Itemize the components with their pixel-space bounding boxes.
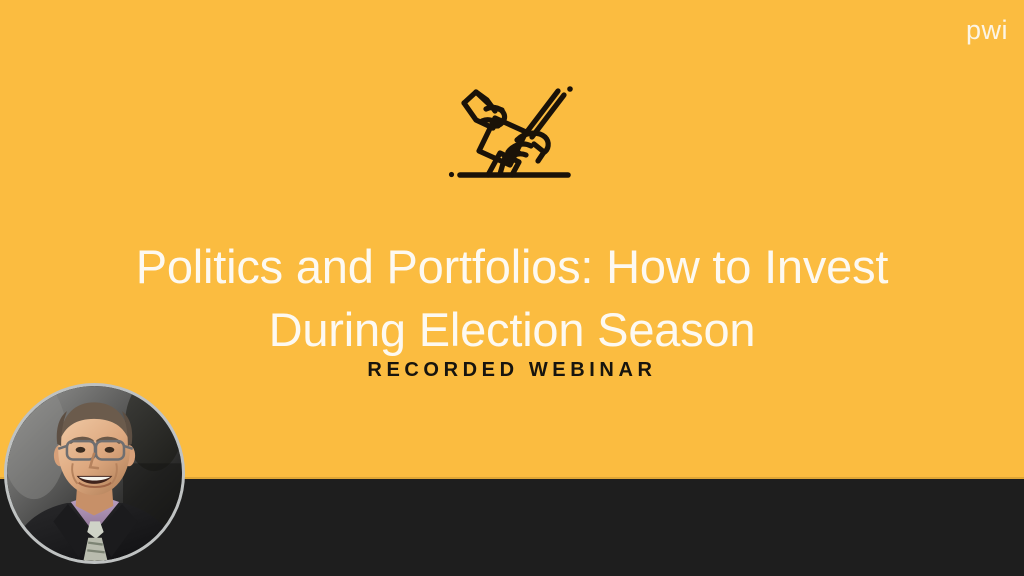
voting-ballot-hands-icon <box>446 80 578 184</box>
page-title-line-2: During Election Season <box>40 299 984 361</box>
speaker-avatar <box>4 383 185 564</box>
page-title-line-1: Politics and Portfolios: How to Invest <box>40 236 984 298</box>
recorded-webinar-label: RECORDED WEBINAR <box>0 359 1024 382</box>
pwi-logo[interactable]: pwi <box>966 17 1008 44</box>
webinar-title-slide: pwi <box>0 0 1024 576</box>
page-title: Politics and Portfolios: How to Invest D… <box>0 236 1024 360</box>
speaker-photo <box>7 386 182 561</box>
